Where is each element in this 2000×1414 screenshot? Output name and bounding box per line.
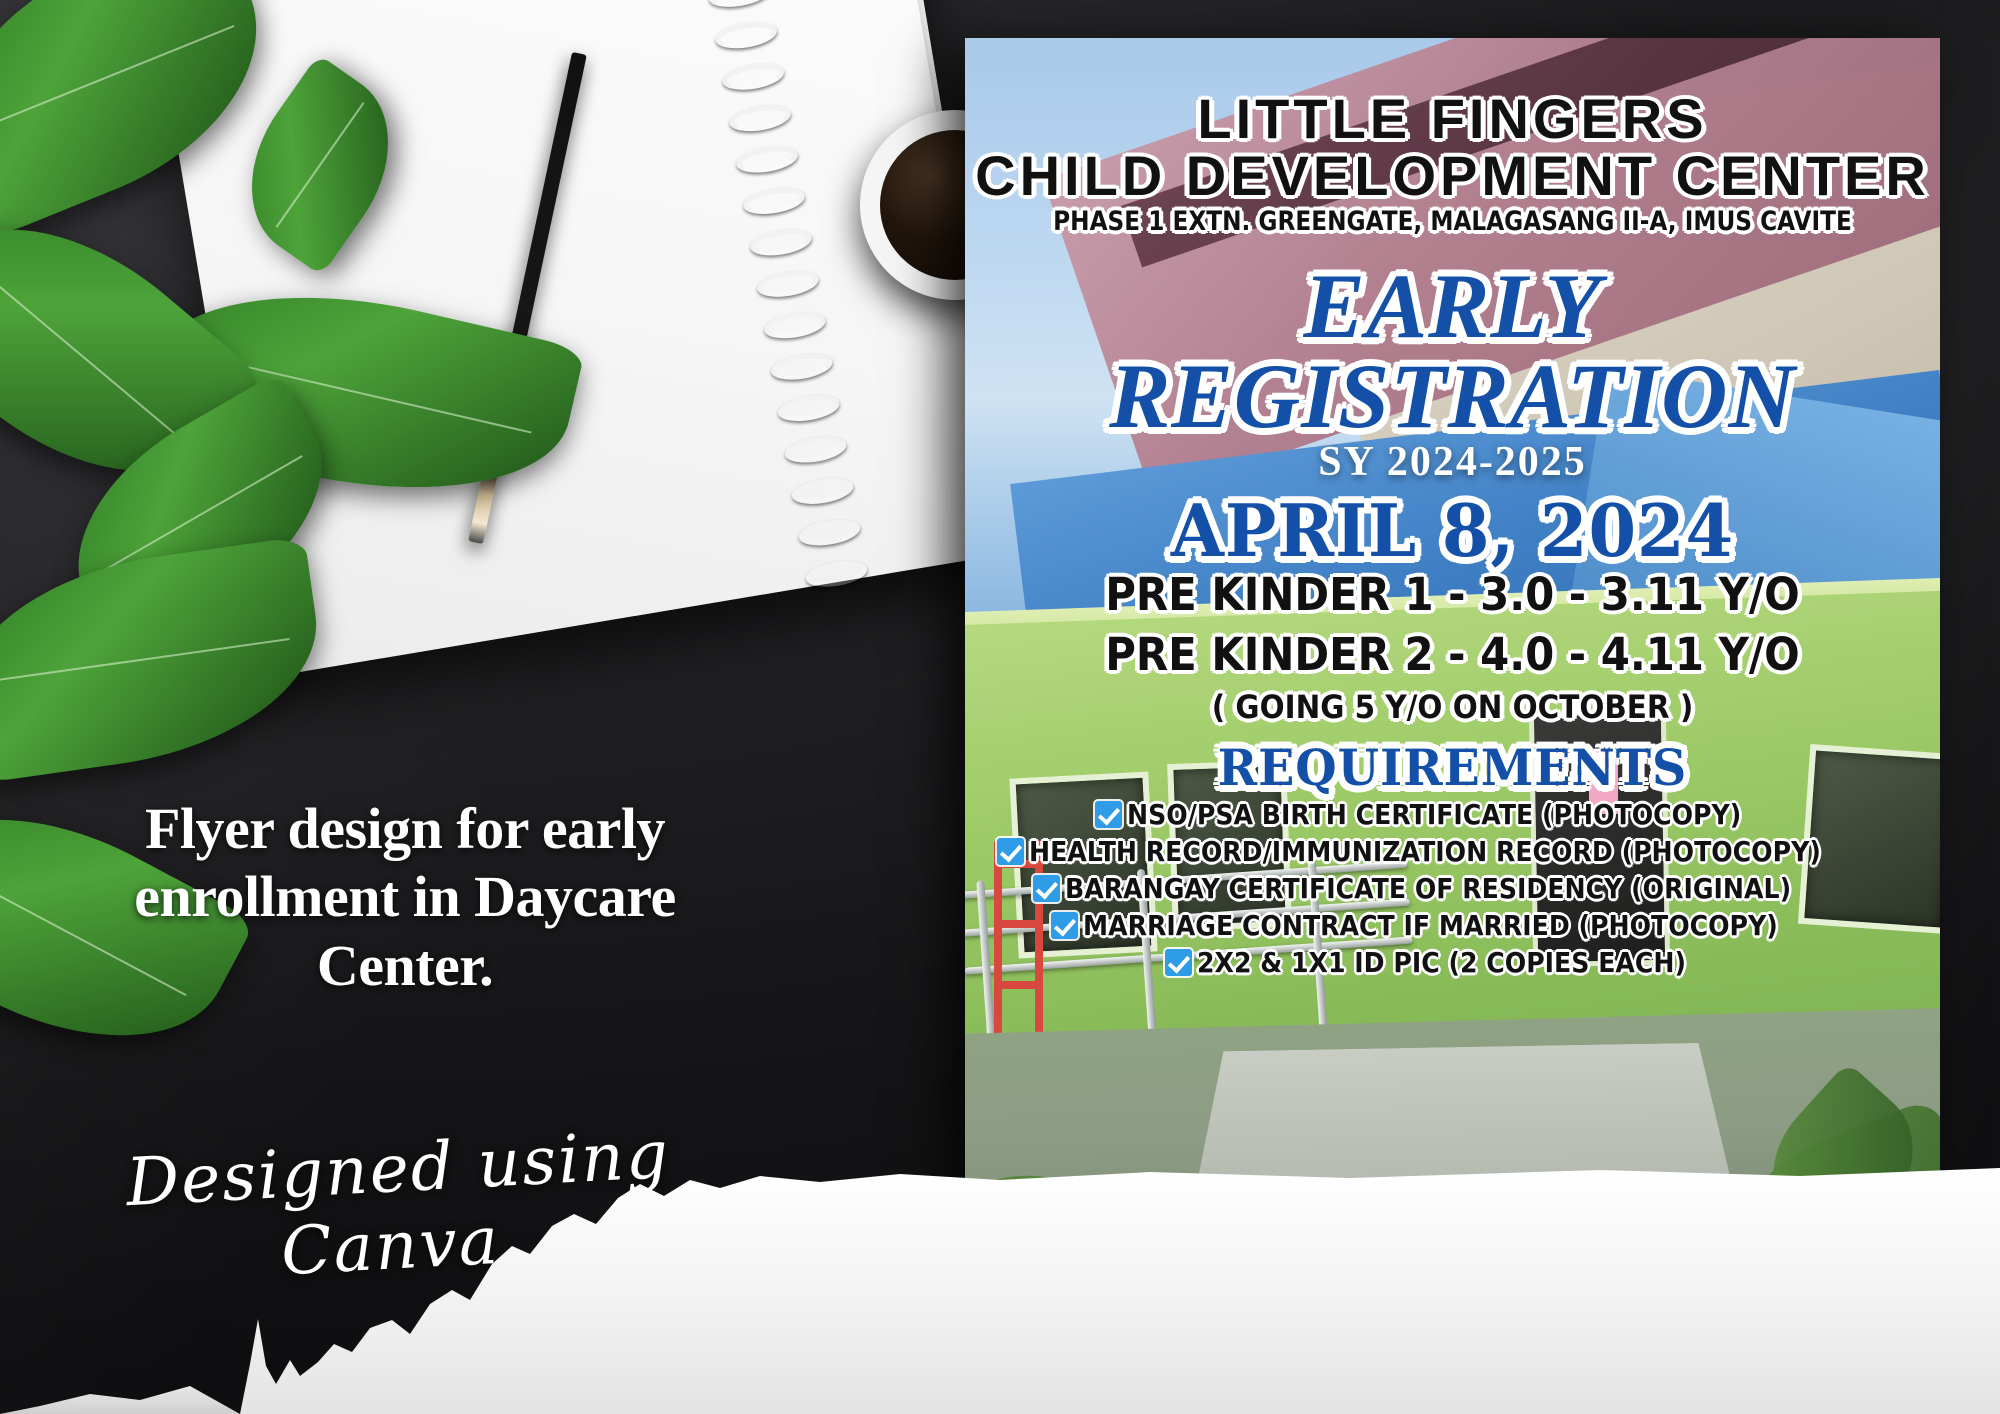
- requirement-text: NSO/PSA BIRTH CERTIFICATE (PHOTOCOPY): [1127, 798, 1741, 831]
- requirement-text: 2X2 & 1X1 ID PIC (2 COPIES EACH): [1197, 946, 1686, 979]
- level-pre-kinder-1: PRE KINDER 1 - 3.0 - 3.11 Y/O: [999, 568, 1906, 621]
- requirement-text: HEALTH RECORD/IMMUNIZATION RECORD (PHOTO…: [1029, 835, 1821, 868]
- requirement-text: BARANGAY CERTIFICATE OF RESIDENCY (ORIGI…: [1065, 872, 1791, 905]
- torn-paper-shape: [0, 1114, 2000, 1414]
- check-icon: [997, 838, 1024, 865]
- requirements-heading: REQUIREMENTS: [989, 738, 1915, 797]
- check-icon: [1165, 949, 1192, 976]
- caption-line-2: enrollment in Daycare Center.: [60, 863, 750, 1000]
- school-year: SY 2024-2025: [965, 438, 1940, 486]
- requirement-item: HEALTH RECORD/IMMUNIZATION RECORD (PHOTO…: [965, 835, 1940, 868]
- check-icon: [1095, 801, 1122, 828]
- requirement-item: 2X2 & 1X1 ID PIC (2 COPIES EACH): [965, 946, 1940, 979]
- center-name-line-1: LITTLE FINGERS: [965, 86, 1940, 151]
- caption-line-1: Flyer design for early: [60, 795, 750, 863]
- center-name-line-2: CHILD DEVELOPMENT CENTER: [965, 143, 1940, 208]
- headline-registration: REGISTRATION: [965, 343, 1940, 449]
- requirement-item: BARANGAY CERTIFICATE OF RESIDENCY (ORIGI…: [965, 872, 1940, 905]
- center-address: PHASE 1 EXTN. GREENGATE, MALAGASANG II-A…: [1033, 206, 1872, 237]
- check-icon: [1033, 875, 1060, 902]
- caption-text: Flyer design for early enrollment in Day…: [60, 795, 750, 1000]
- check-icon: [1051, 912, 1078, 939]
- requirement-item: NSO/PSA BIRTH CERTIFICATE (PHOTOCOPY): [965, 798, 1940, 831]
- requirement-text: MARRIAGE CONTRACT IF MARRIED (PHOTOCOPY): [1083, 909, 1778, 942]
- registration-date: APRIL 8, 2024: [989, 488, 1915, 573]
- torn-paper-edge: [0, 1114, 2000, 1414]
- scene-root: Flyer design for early enrollment in Day…: [0, 0, 2000, 1414]
- age-note: ( GOING 5 Y/O ON OCTOBER ): [1004, 688, 1901, 726]
- level-pre-kinder-2: PRE KINDER 2 - 4.0 - 4.11 Y/O: [999, 628, 1906, 681]
- requirement-item: MARRIAGE CONTRACT IF MARRIED (PHOTOCOPY): [965, 909, 1940, 942]
- requirements-list: NSO/PSA BIRTH CERTIFICATE (PHOTOCOPY) HE…: [965, 798, 1940, 983]
